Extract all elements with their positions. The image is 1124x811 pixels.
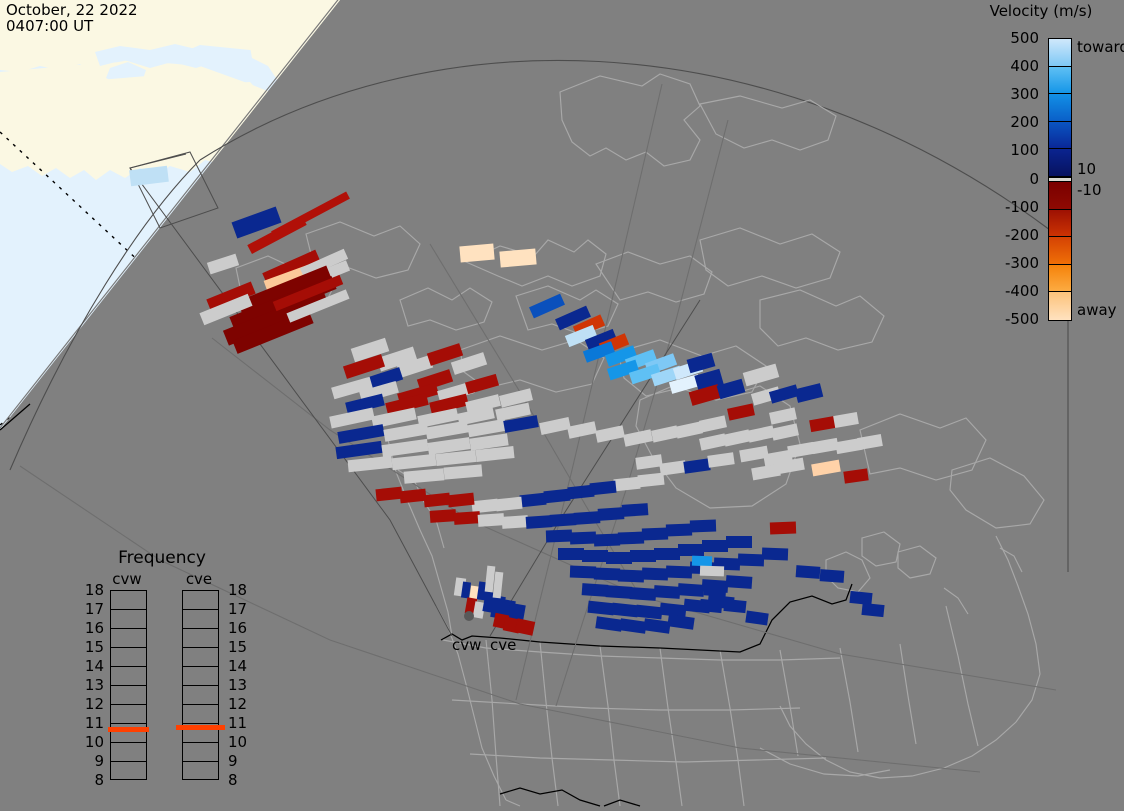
velocity-cell (704, 583, 727, 597)
velocity-cell (606, 552, 632, 564)
velocity-cell (762, 548, 788, 561)
frequency-cell-cve-12 (183, 705, 218, 724)
frequency-tick-cvw-12: 12 (85, 695, 104, 713)
velocity-band-2 (1049, 94, 1071, 122)
velocity-cell (622, 503, 649, 517)
frequency-tick-cvw-9: 9 (94, 752, 104, 770)
frequency-cell-cvw-13 (111, 686, 146, 705)
timestamp: October, 22 20220407:00 UT (6, 2, 138, 34)
frequency-tick-cve-15: 15 (228, 638, 247, 656)
frequency-tick-cve-17: 17 (228, 600, 247, 618)
velocity-tick--300: -300 (1005, 254, 1039, 272)
velocity-cell (630, 587, 657, 601)
velocity-tick--200: -200 (1005, 226, 1039, 244)
velocity-band-8 (1049, 237, 1071, 265)
frequency-tick-cvw-8: 8 (94, 771, 104, 789)
frequency-tick-cvw-16: 16 (85, 619, 104, 637)
velocity-cell (570, 532, 596, 545)
velocity-label-away: away (1077, 301, 1117, 319)
frequency-bar-cvw (110, 590, 147, 780)
velocity-cell (738, 554, 764, 567)
velocity-cell (690, 520, 716, 533)
velocity-cell (796, 565, 821, 579)
velocity-band-4 (1049, 149, 1071, 177)
frequency-cell-cvw-16 (111, 629, 146, 648)
frequency-tick-cvw-11: 11 (85, 714, 104, 732)
velocity-cell (550, 513, 577, 527)
velocity-cell (654, 548, 680, 560)
velocity-colorbar (1048, 38, 1072, 321)
velocity-cell (820, 569, 845, 583)
velocity-cell (582, 583, 609, 597)
velocity-tick--500: -500 (1005, 310, 1039, 328)
velocity-band-1 (1049, 67, 1071, 95)
velocity-cell (678, 544, 704, 556)
radar-map-canvas: October, 22 20220407:00 UT Velocity (m/s… (0, 0, 1124, 811)
velocity-cell (459, 244, 494, 263)
frequency-tick-cvw-13: 13 (85, 676, 104, 694)
frequency-marker-cve (176, 725, 225, 730)
velocity-band-6 (1049, 182, 1071, 210)
velocity-cell (630, 550, 656, 562)
velocity-cell (618, 532, 644, 545)
velocity-cell (666, 524, 692, 537)
timestamp-time: 0407:00 UT (6, 17, 93, 35)
velocity-tick--400: -400 (1005, 282, 1039, 300)
frequency-cell-cve-10 (183, 743, 218, 762)
velocity-legend: Velocity (m/s) 5004003002001000-100-200-… (975, 2, 1123, 332)
velocity-tick-100: 100 (1010, 141, 1039, 159)
velocity-tick--100: -100 (1005, 198, 1039, 216)
frequency-cell-cve-16 (183, 629, 218, 648)
frequency-cell-cve-14 (183, 667, 218, 686)
velocity-tick-400: 400 (1010, 57, 1039, 75)
velocity-cell (861, 603, 884, 617)
velocity-cell (594, 534, 620, 547)
velocity-cell (574, 511, 601, 525)
velocity-label-toward: toward (1077, 38, 1124, 56)
velocity-tick-0: 0 (1029, 170, 1039, 188)
frequency-legend: Frequency cvw cve 18171615141312111098 1… (82, 548, 242, 788)
frequency-tick-cve-13: 13 (228, 676, 247, 694)
velocity-cell (678, 583, 705, 597)
velocity-cell (430, 509, 457, 523)
velocity-cell (726, 536, 752, 548)
velocity-cell (594, 568, 620, 581)
frequency-marker-cvw (108, 727, 149, 732)
frequency-cell-cvw-12 (111, 705, 146, 724)
velocity-cell (558, 548, 584, 560)
frequency-tick-cvw-18: 18 (85, 581, 104, 599)
velocity-cell (642, 568, 668, 581)
velocity-legend-title: Velocity (m/s) (975, 2, 1107, 20)
frequency-cell-cve-9 (183, 762, 218, 781)
velocity-cell (526, 515, 553, 529)
frequency-column-label-cve: cve (174, 570, 224, 588)
frequency-column-label-cvw: cvw (102, 570, 152, 588)
frequency-bar-cve (182, 590, 219, 780)
velocity-tick-labels: 5004003002001000-100-200-300-400-500 (975, 38, 1043, 321)
frequency-tick-cvw-14: 14 (85, 657, 104, 675)
station-label-cvw: cvw (452, 636, 481, 654)
frequency-tick-cve-16: 16 (228, 619, 247, 637)
frequency-ticks-left: 18171615141312111098 (82, 590, 108, 780)
velocity-cell (723, 599, 746, 613)
velocity-cell (570, 566, 596, 579)
frequency-tick-cve-9: 9 (228, 752, 238, 770)
frequency-cell-cve-15 (183, 648, 218, 667)
frequency-tick-cvw-17: 17 (85, 600, 104, 618)
frequency-cell-cvw-14 (111, 667, 146, 686)
radar-station-marker (464, 611, 474, 621)
station-label-cve: cve (490, 636, 516, 654)
frequency-cell-cve-17 (183, 610, 218, 629)
velocity-cell (699, 599, 722, 613)
velocity-cell (618, 570, 644, 583)
velocity-cell (692, 556, 712, 567)
frequency-cell-cvw-17 (111, 610, 146, 629)
velocity-cell (606, 585, 633, 599)
velocity-band-0 (1049, 39, 1071, 67)
frequency-legend-title: Frequency (82, 548, 242, 568)
frequency-cell-cve-18 (183, 591, 218, 610)
velocity-cell (478, 513, 505, 527)
velocity-cell (700, 566, 724, 577)
velocity-tick-300: 300 (1010, 85, 1039, 103)
velocity-cell (849, 591, 872, 605)
frequency-tick-cve-8: 8 (228, 771, 238, 789)
frequency-cell-cvw-15 (111, 648, 146, 667)
velocity-cell (666, 566, 692, 579)
velocity-label-positive-threshold: 10 (1077, 160, 1096, 178)
velocity-band-10 (1049, 292, 1071, 320)
velocity-cell (454, 511, 481, 525)
velocity-direction-labels: toward10-10away (1075, 38, 1124, 321)
velocity-cell (598, 507, 625, 521)
frequency-tick-cve-14: 14 (228, 657, 247, 675)
frequency-tick-cve-10: 10 (228, 733, 247, 751)
velocity-cell (770, 522, 796, 535)
frequency-tick-cve-12: 12 (228, 695, 247, 713)
velocity-cell (702, 540, 728, 552)
frequency-tick-cve-11: 11 (228, 714, 247, 732)
velocity-cell (726, 575, 753, 589)
frequency-cell-cve-13 (183, 686, 218, 705)
velocity-tick-500: 500 (1010, 29, 1039, 47)
frequency-cell-cvw-18 (111, 591, 146, 610)
velocity-label-negative-threshold: -10 (1077, 181, 1102, 199)
velocity-cell (499, 248, 536, 267)
frequency-cell-cvw-9 (111, 762, 146, 781)
velocity-band-3 (1049, 122, 1071, 150)
frequency-tick-cvw-10: 10 (85, 733, 104, 751)
velocity-band-7 (1049, 210, 1071, 238)
velocity-band-9 (1049, 265, 1071, 293)
velocity-cell (642, 528, 668, 541)
frequency-ticks-right: 18171615141312111098 (222, 590, 248, 780)
velocity-tick-200: 200 (1010, 113, 1039, 131)
frequency-cell-cvw-10 (111, 743, 146, 762)
velocity-cell (654, 585, 681, 599)
velocity-cell (502, 515, 529, 529)
velocity-cell (582, 550, 608, 562)
frequency-tick-cvw-15: 15 (85, 638, 104, 656)
frequency-tick-cve-18: 18 (228, 581, 247, 599)
velocity-cell (546, 530, 572, 543)
